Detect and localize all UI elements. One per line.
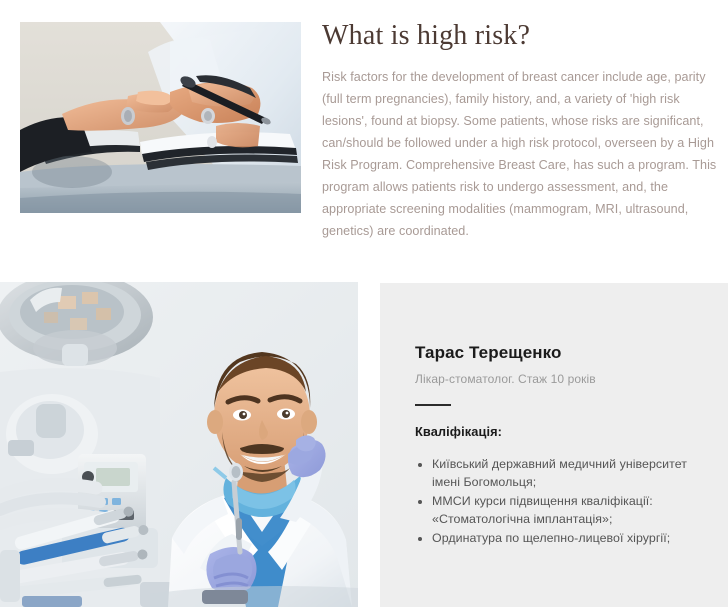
article-paragraph: Risk factors for the development of brea… (322, 66, 722, 242)
article-text-block: What is high risk? Risk factors for the … (322, 20, 722, 242)
doctor-profile-card: Тарас Терещенко Лікар-стоматолог. Стаж 1… (380, 283, 728, 607)
dentist-photo-graphic (0, 282, 358, 607)
list-item: ММСИ курси підвищення кваліфікації: «Сто… (432, 492, 695, 528)
doctor-consultation-photo (20, 22, 301, 213)
smiling-dentist-photo (0, 282, 358, 607)
doctor-subtitle: Лікар-стоматолог. Стаж 10 років (415, 372, 695, 386)
list-item: Ординатура по щелепно-лицевої хірургії; (432, 529, 695, 547)
consultation-photo-graphic (20, 22, 301, 213)
qualification-list: Київський державний медичний університет… (415, 455, 695, 547)
page-title: What is high risk? (322, 20, 722, 52)
divider-rule (415, 404, 451, 406)
list-item: Київський державний медичний університет… (432, 455, 695, 491)
doctor-name: Тарас Терещенко (415, 343, 695, 363)
high-risk-article-section: What is high risk? Risk factors for the … (0, 0, 728, 270)
profile-card-content: Тарас Терещенко Лікар-стоматолог. Стаж 1… (415, 343, 695, 548)
doctor-profile-section: Тарас Терещенко Лікар-стоматолог. Стаж 1… (0, 282, 728, 607)
qualification-heading: Кваліфікація: (415, 424, 695, 439)
